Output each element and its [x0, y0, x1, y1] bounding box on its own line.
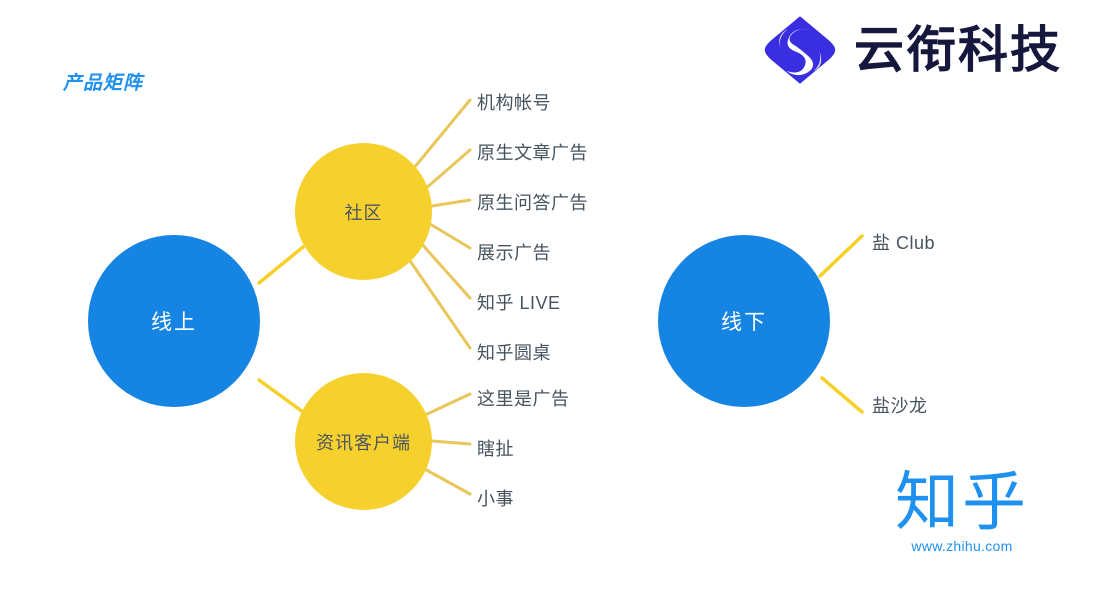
leaf-community-1[interactable]: 机构帐号 [477, 89, 551, 115]
connector-online-community [259, 247, 303, 283]
spoke-newsapp-3 [421, 467, 470, 494]
zhihu-logo: 知乎 www.zhihu.com [895, 470, 1029, 554]
leaf-offline-2[interactable]: 盐沙龙 [872, 392, 928, 418]
spoke-community-1 [409, 100, 470, 174]
spoke-newsapp-2 [432, 441, 470, 444]
node-community[interactable]: 社区 [295, 143, 432, 280]
spoke-newsapp-1 [423, 394, 470, 416]
leaf-community-5[interactable]: 知乎 LIVE [477, 289, 561, 315]
node-community-label: 社区 [345, 199, 383, 225]
node-offline-label: 线下 [721, 306, 767, 336]
spoke-community-5 [420, 242, 470, 298]
connector-online-newsapp [259, 380, 303, 412]
leaf-community-2[interactable]: 原生文章广告 [477, 139, 588, 165]
zhihu-wordmark: 知乎 [895, 470, 1029, 534]
leaf-community-3[interactable]: 原生问答广告 [477, 189, 588, 215]
node-online-label: 线上 [151, 306, 197, 336]
leaf-newsapp-2[interactable]: 瞎扯 [477, 435, 514, 461]
node-newsapp[interactable]: 资讯客户端 [295, 373, 432, 510]
spoke-offline-2 [822, 378, 862, 412]
spoke-community-4 [430, 224, 470, 248]
node-newsapp-label: 资讯客户端 [316, 429, 411, 455]
leaf-community-4[interactable]: 展示广告 [477, 239, 551, 265]
page-title: 产品矩阵 [63, 68, 143, 95]
leaf-newsapp-3[interactable]: 小事 [477, 485, 514, 511]
spoke-offline-1 [820, 236, 862, 276]
spoke-community-2 [424, 150, 470, 190]
spoke-community-3 [432, 200, 470, 206]
corporate-logo: 云衔科技 [762, 14, 1062, 86]
slide-canvas: 产品矩阵 云衔科技 线上 线下 [0, 0, 1100, 615]
leaf-newsapp-1[interactable]: 这里是广告 [477, 385, 570, 411]
corporate-logo-text: 云衔科技 [854, 25, 1062, 75]
zhihu-url: www.zhihu.com [895, 538, 1029, 554]
node-offline[interactable]: 线下 [658, 235, 830, 407]
leaf-offline-1[interactable]: 盐 Club [872, 229, 935, 255]
node-online[interactable]: 线上 [88, 235, 260, 407]
yunxian-s-mark-icon [762, 14, 838, 86]
leaf-community-6[interactable]: 知乎圆桌 [477, 339, 551, 365]
spoke-community-6 [406, 255, 470, 348]
